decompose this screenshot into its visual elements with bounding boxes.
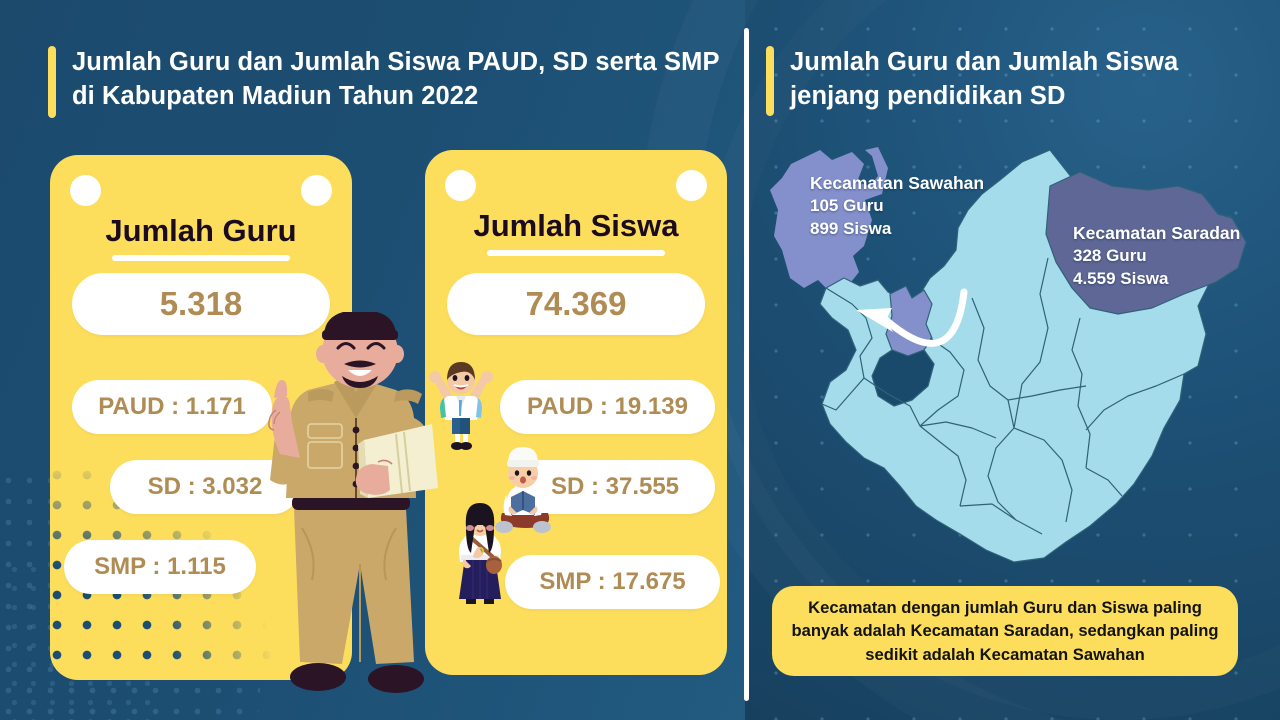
card-notch-left-icon	[445, 170, 476, 201]
card-heading-underline	[487, 250, 665, 256]
guru-paud-value: PAUD : 1.171	[72, 380, 272, 434]
guru-smp-value: SMP : 1.115	[64, 540, 256, 594]
map-caption-box: Kecamatan dengan jumlah Guru dan Siswa p…	[772, 586, 1238, 676]
map-label-sawahan-name: Kecamatan Sawahan	[810, 172, 984, 195]
card-heading-siswa: Jumlah Siswa	[425, 208, 727, 244]
title-accent-bar	[48, 46, 56, 118]
title-accent-bar	[766, 46, 774, 116]
map-label-saradan: Kecamatan Saradan 328 Guru 4.559 Siswa	[1073, 222, 1240, 291]
map-label-saradan-siswa: 4.559 Siswa	[1073, 268, 1240, 291]
card-heading-guru: Jumlah Guru	[50, 213, 352, 249]
left-title-text: Jumlah Guru dan Jumlah Siswa PAUD, SD se…	[72, 46, 728, 114]
left-panel-title: Jumlah Guru dan Jumlah Siswa PAUD, SD se…	[48, 46, 728, 118]
map-label-saradan-name: Kecamatan Saradan	[1073, 222, 1240, 245]
student-smp-illustration	[449, 503, 511, 607]
map-caption-text: Kecamatan dengan jumlah Guru dan Siswa p…	[786, 596, 1224, 667]
map-label-saradan-guru: 328 Guru	[1073, 245, 1240, 268]
siswa-paud-value: PAUD : 19.139	[500, 380, 715, 434]
siswa-smp-value: SMP : 17.675	[505, 555, 720, 609]
map-label-sawahan-guru: 105 Guru	[810, 195, 984, 218]
right-title-text: Jumlah Guru dan Jumlah Siswa jenjang pen…	[790, 46, 1236, 114]
card-notch-left-icon	[70, 175, 101, 206]
panel-divider	[744, 28, 749, 701]
infographic-canvas: Jumlah Guru dan Jumlah Siswa PAUD, SD se…	[0, 0, 1280, 720]
right-panel-title: Jumlah Guru dan Jumlah Siswa jenjang pen…	[766, 46, 1236, 116]
student-paud-illustration	[428, 358, 494, 450]
map-label-sawahan: Kecamatan Sawahan 105 Guru 899 Siswa	[810, 172, 984, 241]
card-heading-underline	[112, 255, 290, 261]
card-notch-right-icon	[676, 170, 707, 201]
siswa-total-value: 74.369	[447, 273, 705, 335]
card-notch-right-icon	[301, 175, 332, 206]
map-label-sawahan-siswa: 899 Siswa	[810, 218, 984, 241]
